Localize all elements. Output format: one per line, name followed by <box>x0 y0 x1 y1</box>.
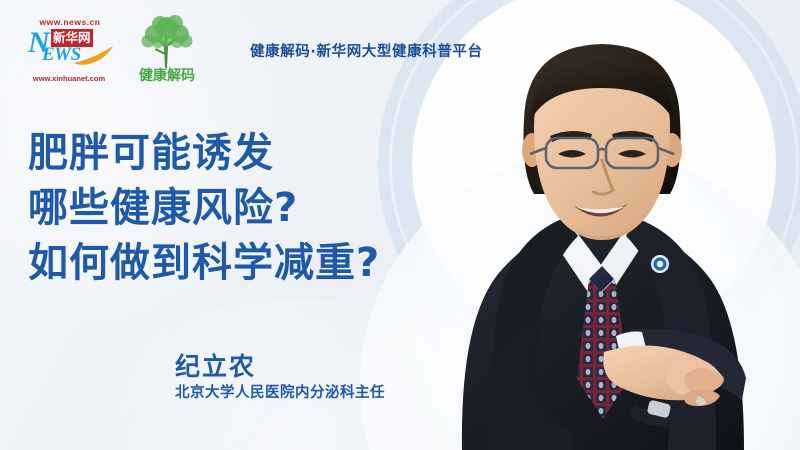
headline-line-2: 哪些健康风险? <box>28 181 380 236</box>
headline-line-1: 肥胖可能诱发 <box>28 126 380 181</box>
health-program-poster: www.news.cn N 新华网 EWS www.xinhuanet.com <box>0 0 800 450</box>
xinhua-logo[interactable]: www.news.cn N 新华网 EWS www.xinhuanet.com <box>24 17 114 83</box>
tree-icon <box>134 14 200 70</box>
poster-tagline: 健康解码·新华网大型健康科普平台 <box>250 40 483 61</box>
speaker-name: 纪立农 <box>175 352 385 382</box>
speaker-title: 北京大学人民医院内分泌科主任 <box>175 384 385 403</box>
poster-headline: 肥胖可能诱发 哪些健康风险? 如何做到科学减重? <box>28 126 380 291</box>
speaker-credit: 纪立农 北京大学人民医院内分泌科主任 <box>175 352 385 403</box>
xinhua-swoosh-icon <box>72 44 116 66</box>
program-logo-label: 健康解码 <box>128 65 206 85</box>
headline-line-3: 如何做到科学减重? <box>28 236 380 291</box>
program-logo[interactable]: 健康解码 <box>128 14 206 86</box>
xinhua-wordmark: N 新华网 EWS <box>28 28 112 72</box>
xinhua-bottom-url: www.xinhuanet.com <box>24 74 114 83</box>
poster-header: www.news.cn N 新华网 EWS www.xinhuanet.com <box>24 14 483 86</box>
